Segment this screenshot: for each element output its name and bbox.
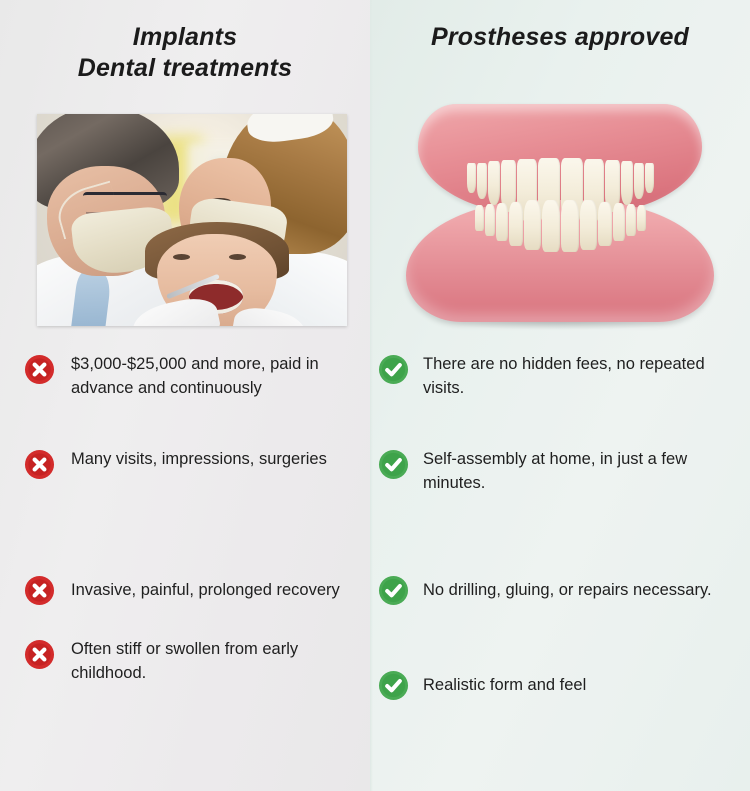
denture-body	[390, 96, 730, 336]
right-heading-line-1: Prostheses approved	[370, 22, 750, 53]
tooth	[477, 163, 487, 199]
patient-eye-left	[173, 254, 190, 260]
list-item: No drilling, gluing, or repairs necessar…	[0, 542, 750, 637]
lower-teeth-row	[438, 200, 682, 252]
tooth	[496, 203, 508, 241]
tooth	[598, 202, 612, 246]
list-item-text: No drilling, gluing, or repairs necessar…	[423, 578, 712, 602]
right-panel-heading: Prostheses approved	[370, 0, 750, 53]
dental-treatment-photo	[37, 114, 347, 326]
check-icon	[378, 354, 409, 385]
tooth	[561, 200, 579, 252]
patient-eye-right	[229, 254, 246, 260]
left-panel-heading: Implants Dental treatments	[0, 0, 370, 84]
tooth	[509, 202, 523, 246]
list-item-text: Realistic form and feel	[423, 673, 586, 697]
tooth	[637, 205, 646, 231]
tooth	[645, 163, 654, 193]
list-item: Realistic form and feel	[0, 637, 750, 732]
tooth	[613, 203, 625, 241]
tooth	[475, 205, 484, 231]
check-icon	[378, 670, 409, 701]
list-item-text: Self-assembly at home, in just a few min…	[423, 447, 723, 495]
tooth	[580, 200, 597, 250]
check-icon	[378, 449, 409, 480]
list-item: Self-assembly at home, in just a few min…	[0, 447, 750, 542]
tooth	[485, 204, 495, 236]
tooth	[634, 163, 644, 199]
check-icon	[378, 575, 409, 606]
tooth	[488, 161, 500, 205]
tooth	[524, 200, 541, 250]
tooth	[542, 200, 560, 252]
left-heading-line-1: Implants	[0, 22, 370, 53]
right-benefit-list: There are no hidden fees, no repeated vi…	[0, 352, 750, 732]
tooth	[467, 163, 476, 193]
comparison-infographic: Implants Dental treatments	[0, 0, 750, 791]
left-heading-line-2: Dental treatments	[0, 53, 370, 84]
list-item-text: There are no hidden fees, no repeated vi…	[423, 352, 723, 400]
tooth	[621, 161, 633, 205]
tooth	[626, 204, 636, 236]
denture-image	[390, 96, 730, 336]
list-item: There are no hidden fees, no repeated vi…	[0, 352, 750, 447]
